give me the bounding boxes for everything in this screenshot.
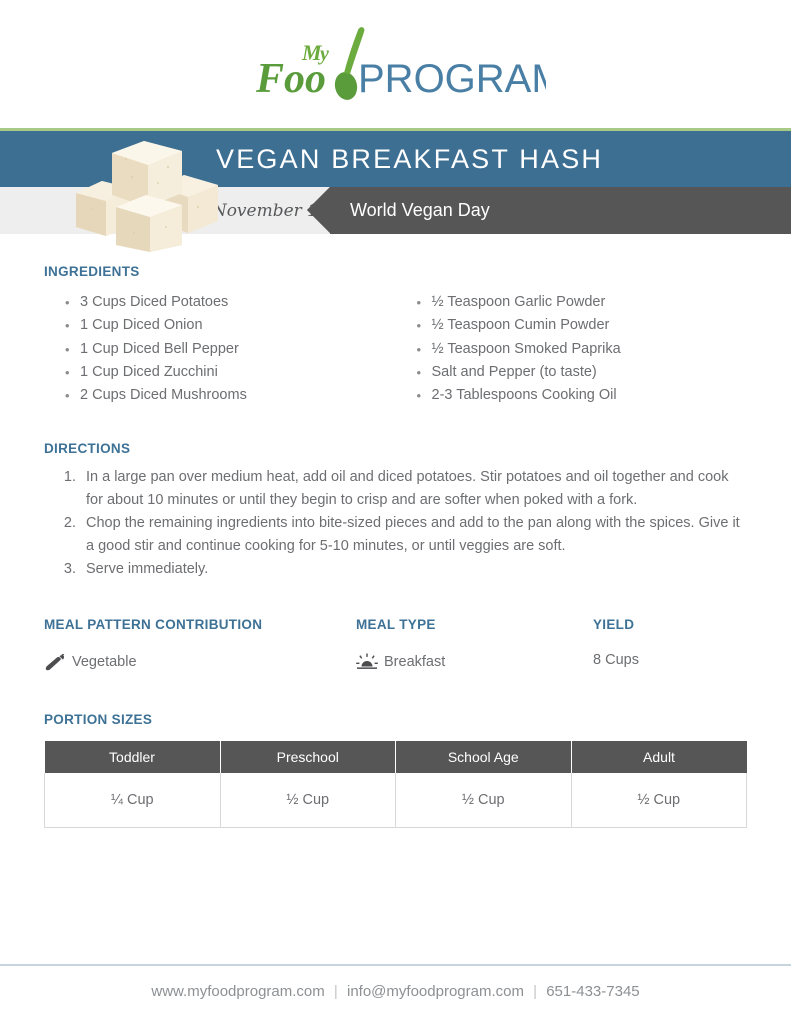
meal-type-column: MEAL TYPE Breakfast: [356, 617, 593, 672]
svg-text:Foo: Foo: [255, 56, 326, 102]
date-band: November 1 World Vegan Day: [0, 187, 791, 234]
list-item: In a large pan over medium heat, add oil…: [80, 466, 747, 512]
meal-type-heading: MEAL TYPE: [356, 617, 593, 632]
table-row: ¼ Cup ½ Cup ½ Cup ½ Cup: [45, 773, 747, 828]
portion-sizes-table: Toddler Preschool School Age Adult ¼ Cup…: [44, 741, 747, 828]
list-item: ½ Teaspoon Cumin Powder: [432, 314, 748, 337]
list-item: 1 Cup Diced Bell Pepper: [80, 338, 396, 361]
directions-list: In a large pan over medium heat, add oil…: [44, 466, 747, 581]
sunrise-icon: [356, 652, 378, 672]
yield-value: 8 Cups: [593, 652, 639, 668]
logo-graphic: M y Foo PROGRAM: [246, 24, 546, 104]
footer-separator-2: |: [528, 983, 542, 1000]
ingredients-column-right: ½ Teaspoon Garlic Powder ½ Teaspoon Cumi…: [396, 291, 748, 407]
recipe-meta-row: MEAL PATTERN CONTRIBUTION Vegetable MEAL…: [44, 617, 747, 672]
footer-separator-1: |: [329, 983, 343, 1000]
portion-sizes-heading: PORTION SIZES: [44, 712, 747, 727]
list-item: 3 Cups Diced Potatoes: [80, 291, 396, 314]
yield-value-row: 8 Cups: [593, 652, 747, 668]
footer-phone[interactable]: 651-433-7345: [546, 983, 639, 1000]
yield-heading: YIELD: [593, 617, 747, 632]
list-item: ½ Teaspoon Garlic Powder: [432, 291, 748, 314]
ingredients-column-left: 3 Cups Diced Potatoes 1 Cup Diced Onion …: [44, 291, 396, 407]
yield-column: YIELD 8 Cups: [593, 617, 747, 672]
ingredients-list-right: ½ Teaspoon Garlic Powder ½ Teaspoon Cumi…: [396, 291, 748, 407]
page-title: VEGAN BREAKFAST HASH: [216, 144, 603, 175]
recipe-header: VEGAN BREAKFAST HASH November 1 World Ve…: [0, 128, 791, 234]
arrow-chevron-icon: [307, 187, 330, 233]
ingredients-columns: 3 Cups Diced Potatoes 1 Cup Diced Onion …: [44, 291, 747, 407]
carrot-icon: [44, 652, 66, 672]
my-food-program-logo: M y Foo PROGRAM: [246, 24, 546, 104]
list-item: 1 Cup Diced Zucchini: [80, 361, 396, 384]
list-item: Serve immediately.: [80, 558, 747, 581]
list-item: Salt and Pepper (to taste): [432, 361, 748, 384]
footer-website[interactable]: www.myfoodprogram.com: [151, 983, 324, 1000]
list-item: 2-3 Tablespoons Cooking Oil: [432, 384, 748, 407]
occasion-band: World Vegan Day: [330, 187, 791, 234]
directions-heading: DIRECTIONS: [44, 441, 747, 456]
list-item: ½ Teaspoon Smoked Paprika: [432, 338, 748, 361]
column-header-adult: Adult: [571, 741, 747, 773]
meal-pattern-value-row: Vegetable: [44, 652, 356, 672]
list-item: 1 Cup Diced Onion: [80, 314, 396, 337]
footer-contact: www.myfoodprogram.com | info@myfoodprogr…: [0, 966, 791, 1024]
portion-school-age: ½ Cup: [396, 773, 572, 828]
ingredients-heading: INGREDIENTS: [44, 264, 747, 279]
table-header-row: Toddler Preschool School Age Adult: [45, 741, 747, 773]
column-header-school-age: School Age: [396, 741, 572, 773]
recipe-date: November 1: [0, 187, 330, 234]
meal-type-value-row: Breakfast: [356, 652, 593, 672]
page-footer: www.myfoodprogram.com | info@myfoodprogr…: [0, 964, 791, 1024]
recipe-body: INGREDIENTS 3 Cups Diced Potatoes 1 Cup …: [0, 264, 791, 828]
brand-logo-area: M y Foo PROGRAM: [0, 0, 791, 128]
portion-preschool: ½ Cup: [220, 773, 396, 828]
column-header-toddler: Toddler: [45, 741, 221, 773]
occasion-label: World Vegan Day: [350, 200, 490, 221]
meal-type-value: Breakfast: [384, 654, 445, 670]
meal-pattern-column: MEAL PATTERN CONTRIBUTION Vegetable: [44, 617, 356, 672]
list-item: 2 Cups Diced Mushrooms: [80, 384, 396, 407]
meal-pattern-value: Vegetable: [72, 654, 137, 670]
ingredients-list-left: 3 Cups Diced Potatoes 1 Cup Diced Onion …: [44, 291, 396, 407]
list-item: Chop the remaining ingredients into bite…: [80, 512, 747, 558]
svg-text:PROGRAM: PROGRAM: [358, 57, 546, 101]
title-band: VEGAN BREAKFAST HASH: [0, 131, 791, 187]
portion-adult: ½ Cup: [571, 773, 747, 828]
portion-toddler: ¼ Cup: [45, 773, 221, 828]
footer-email[interactable]: info@myfoodprogram.com: [347, 983, 524, 1000]
meal-pattern-heading: MEAL PATTERN CONTRIBUTION: [44, 617, 356, 632]
column-header-preschool: Preschool: [220, 741, 396, 773]
